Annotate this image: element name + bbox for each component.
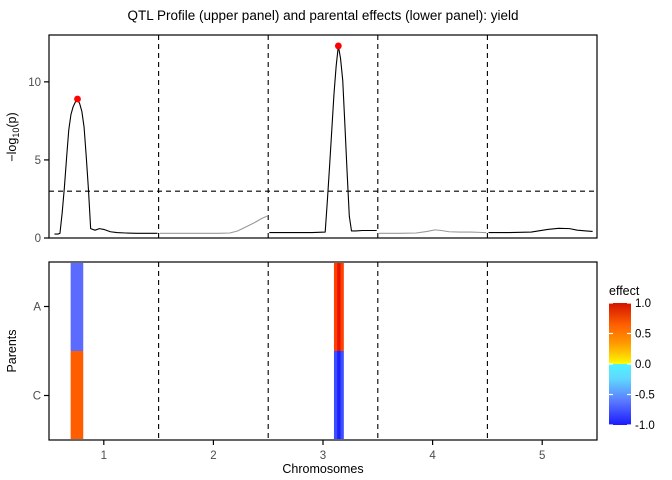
x-axis: 12345 — [101, 440, 546, 462]
qtl-plot-root: QTL Profile (upper panel) and parental e… — [0, 0, 672, 480]
effect-cell-chr1-C[interactable] — [71, 351, 84, 439]
x-tick-label: 4 — [429, 450, 436, 462]
upper-panel-frame — [49, 35, 597, 238]
legend-tick-label: -0.5 — [635, 390, 655, 402]
peak-marker-1[interactable] — [74, 96, 81, 103]
effect-legend: effect1.00.50.0-0.5-1.0 — [609, 284, 655, 432]
lower-y-axis-label-text: Parents — [5, 329, 19, 372]
upper-y-axis-label: −log10(p) — [5, 112, 21, 161]
x-axis-label: Chromosomes — [282, 462, 363, 476]
effect-cell-core-chr3-A — [337, 263, 340, 351]
y-tick-label: 0 — [35, 233, 41, 245]
parent-row-label: A — [33, 302, 41, 314]
lower-panel-frame — [49, 262, 597, 440]
qtl-profile-figure: QTL Profile (upper panel) and parental e… — [0, 0, 672, 480]
lower-panel: ACParents — [5, 262, 597, 440]
qtl-trace-chr3 — [269, 46, 376, 233]
parent-row-label: C — [33, 391, 41, 403]
legend-tick-label: -1.0 — [635, 420, 655, 432]
lower-y-axis-label: Parents — [5, 329, 19, 372]
qtl-trace-chr2 — [160, 216, 267, 233]
qtl-trace-chr1 — [54, 99, 157, 234]
x-tick-label: 1 — [101, 450, 107, 462]
y-tick-label: 5 — [35, 155, 41, 167]
legend-tick-label: 1.0 — [635, 298, 651, 310]
x-tick-label: 3 — [320, 450, 326, 462]
upper-panel: 0510−log10(p) — [5, 35, 597, 245]
effect-cell-core-chr3-C — [337, 351, 340, 439]
legend-tick-label: 0.5 — [635, 329, 651, 341]
qtl-trace-chr4 — [379, 230, 486, 233]
legend-title: effect — [609, 284, 640, 298]
x-tick-label: 5 — [539, 450, 545, 462]
upper-y-axis-label-text: −log10(p) — [5, 112, 21, 161]
x-tick-label: 2 — [210, 450, 216, 462]
qtl-trace-chr5 — [489, 228, 593, 232]
effect-cell-chr1-A[interactable] — [71, 263, 84, 351]
y-tick-label: 10 — [28, 77, 41, 89]
legend-tick-label: 0.0 — [635, 359, 651, 371]
page-title: QTL Profile (upper panel) and parental e… — [128, 8, 519, 23]
peak-marker-2[interactable] — [335, 43, 342, 50]
